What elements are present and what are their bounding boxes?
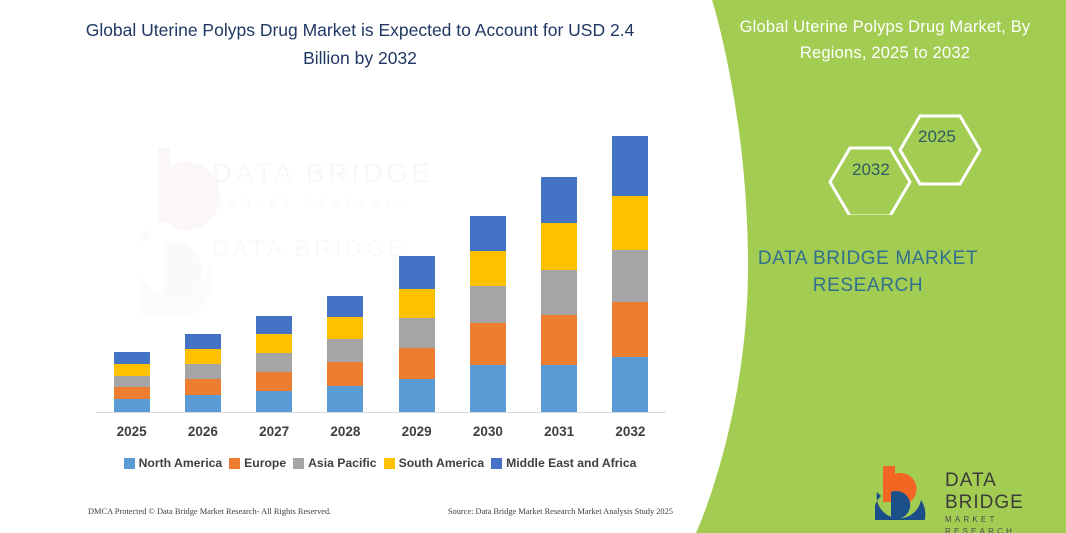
bar-segment[interactable] xyxy=(470,251,506,286)
green-side-panel: Global Uterine Polyps Drug Market, By Re… xyxy=(660,0,1066,533)
panel-brand-name: DATA BRIDGE MARKET RESEARCH xyxy=(703,245,1033,299)
bar-segment[interactable] xyxy=(327,386,363,412)
footer-source: Source: Data Bridge Market Research Mark… xyxy=(448,507,673,516)
bar-segment[interactable] xyxy=(185,349,221,364)
bar-segment[interactable] xyxy=(256,334,292,353)
bar-segment[interactable] xyxy=(399,379,435,412)
x-axis-label-2030: 2030 xyxy=(458,424,518,439)
x-axis-line xyxy=(96,412,666,413)
bar-segment[interactable] xyxy=(612,196,648,250)
bar-segment[interactable] xyxy=(612,250,648,302)
bar-segment[interactable] xyxy=(541,223,577,270)
bar-2026[interactable] xyxy=(185,334,221,412)
logo-title: DATA BRIDGE xyxy=(945,470,1060,514)
bar-segment[interactable] xyxy=(114,399,150,412)
bar-2029[interactable] xyxy=(399,256,435,412)
bar-segment[interactable] xyxy=(185,334,221,349)
x-axis-labels: 20252026202720282029203020312032 xyxy=(96,424,666,439)
bar-segment[interactable] xyxy=(185,364,221,379)
bar-2031[interactable] xyxy=(541,177,577,412)
bar-segment[interactable] xyxy=(185,379,221,395)
bar-segment[interactable] xyxy=(114,352,150,364)
legend-label: Europe xyxy=(244,456,286,470)
hexagon-label-end-year: 2032 xyxy=(852,160,890,180)
x-axis-label-2032: 2032 xyxy=(600,424,660,439)
legend-label: Middle East and Africa xyxy=(506,456,636,470)
bar-2028[interactable] xyxy=(327,296,363,412)
data-bridge-b-icon xyxy=(875,462,941,520)
bar-segment[interactable] xyxy=(399,289,435,318)
legend-item-middle-east-and-africa[interactable]: Middle East and Africa xyxy=(491,456,636,470)
bar-2025[interactable] xyxy=(114,352,150,412)
bar-segment[interactable] xyxy=(470,365,506,412)
bar-segment[interactable] xyxy=(612,136,648,196)
footer-copyright: DMCA Protected © Data Bridge Market Rese… xyxy=(88,507,331,516)
bar-2032[interactable] xyxy=(612,136,648,412)
logo-subtitle: MARKET RESEARCH xyxy=(945,514,1060,533)
bar-segment[interactable] xyxy=(541,270,577,315)
hexagon-outline-icon xyxy=(820,100,1020,215)
legend-item-europe[interactable]: Europe xyxy=(229,456,286,470)
bar-segment[interactable] xyxy=(470,216,506,251)
x-axis-label-2027: 2027 xyxy=(244,424,304,439)
chart-legend: North AmericaEuropeAsia PacificSouth Ame… xyxy=(80,456,680,470)
legend-item-north-america[interactable]: North America xyxy=(124,456,223,470)
legend-swatch-icon xyxy=(293,458,304,469)
company-logo: DATA BRIDGE MARKET RESEARCH xyxy=(875,462,1060,524)
bar-segment[interactable] xyxy=(114,364,150,376)
bar-segment[interactable] xyxy=(541,177,577,223)
page-title: Global Uterine Polyps Drug Market is Exp… xyxy=(60,16,660,72)
legend-swatch-icon xyxy=(229,458,240,469)
bar-segment[interactable] xyxy=(612,302,648,357)
bar-segment[interactable] xyxy=(541,365,577,412)
bar-segment[interactable] xyxy=(114,387,150,399)
stacked-bar-chart xyxy=(96,120,666,412)
infographic-page: Global Uterine Polyps Drug Market is Exp… xyxy=(0,0,1066,533)
legend-swatch-icon xyxy=(384,458,395,469)
bar-2030[interactable] xyxy=(470,216,506,412)
legend-item-south-america[interactable]: South America xyxy=(384,456,485,470)
x-axis-label-2031: 2031 xyxy=(529,424,589,439)
x-axis-label-2028: 2028 xyxy=(315,424,375,439)
bar-segment[interactable] xyxy=(327,317,363,339)
bar-segment[interactable] xyxy=(470,323,506,365)
panel-title: Global Uterine Polyps Drug Market, By Re… xyxy=(720,14,1050,66)
bar-segment[interactable] xyxy=(541,315,577,365)
bar-segment[interactable] xyxy=(185,395,221,412)
bar-segment[interactable] xyxy=(399,256,435,289)
bar-segment[interactable] xyxy=(256,391,292,412)
bar-segment[interactable] xyxy=(470,286,506,323)
bar-segment[interactable] xyxy=(612,357,648,412)
bar-segment[interactable] xyxy=(399,318,435,348)
bar-segment[interactable] xyxy=(399,348,435,379)
legend-swatch-icon xyxy=(124,458,135,469)
legend-label: North America xyxy=(139,456,223,470)
hexagon-badges: 2032 2025 xyxy=(820,100,1020,215)
hexagon-label-start-year: 2025 xyxy=(918,127,956,147)
bar-segment[interactable] xyxy=(256,316,292,334)
bar-segment[interactable] xyxy=(327,339,363,362)
x-axis-label-2025: 2025 xyxy=(102,424,162,439)
bar-2027[interactable] xyxy=(256,316,292,412)
legend-label: South America xyxy=(399,456,485,470)
bar-segment[interactable] xyxy=(256,353,292,372)
x-axis-label-2029: 2029 xyxy=(387,424,447,439)
bar-segment[interactable] xyxy=(114,376,150,387)
bar-segment[interactable] xyxy=(256,372,292,391)
legend-label: Asia Pacific xyxy=(308,456,376,470)
bar-segment[interactable] xyxy=(327,362,363,386)
legend-swatch-icon xyxy=(491,458,502,469)
bar-segment[interactable] xyxy=(327,296,363,317)
legend-item-asia-pacific[interactable]: Asia Pacific xyxy=(293,456,376,470)
footer: DMCA Protected © Data Bridge Market Rese… xyxy=(88,507,673,516)
x-axis-label-2026: 2026 xyxy=(173,424,233,439)
